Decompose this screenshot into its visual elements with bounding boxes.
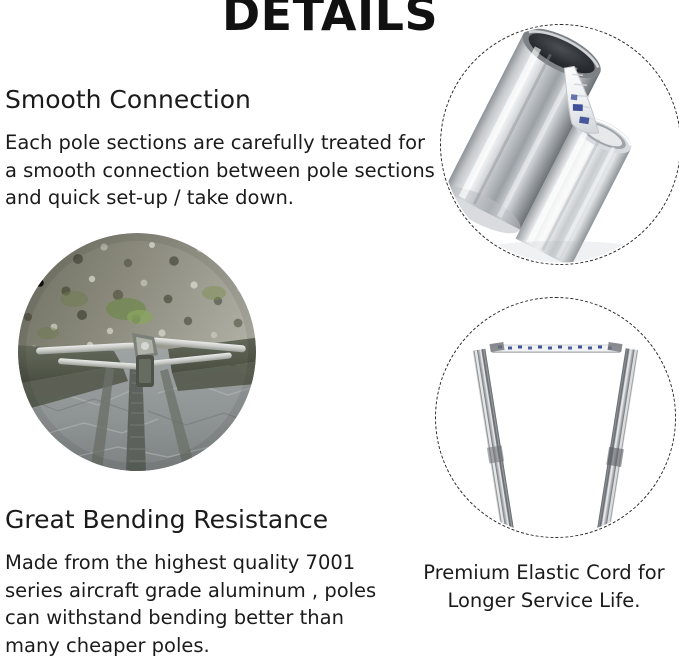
tent-hub-photo [18, 233, 256, 471]
section-body-smooth-connection: Each pole sections are carefully treated… [5, 129, 437, 212]
caption-elastic-cord: Premium Elastic Cord for Longer Service … [412, 559, 676, 614]
pole-arch-illustration [436, 298, 675, 537]
section-body-great-bending-resistance: Made from the highest quality 7001 serie… [5, 549, 385, 659]
pole-arch-photo [435, 297, 676, 538]
tent-hub-illustration [18, 233, 256, 471]
section-heading-smooth-connection: Smooth Connection [5, 86, 251, 114]
section-heading-great-bending-resistance: Great Bending Resistance [5, 506, 328, 534]
page-title: DETAILS [222, 0, 452, 37]
pole-joint-photo [440, 24, 679, 265]
pole-joint-illustration [441, 25, 679, 264]
